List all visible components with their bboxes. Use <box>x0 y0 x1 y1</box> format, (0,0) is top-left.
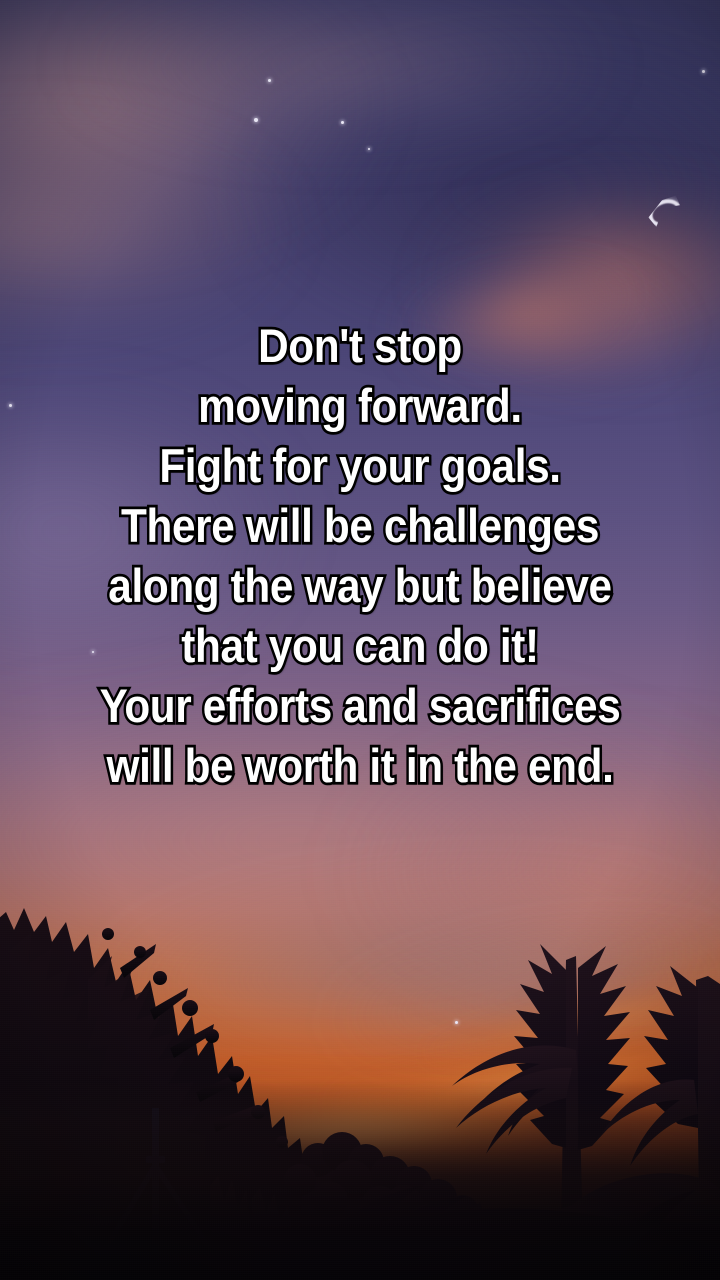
cloud-upper-left-lower <box>0 120 340 340</box>
quote-line-2: moving forward. <box>50 376 669 436</box>
star-icon <box>702 70 705 73</box>
quote-block: Don't stop moving forward. Fight for you… <box>0 316 720 796</box>
ground-shadow <box>0 1080 720 1280</box>
star-icon <box>254 118 258 122</box>
quote-wallpaper: Don't stop moving forward. Fight for you… <box>0 0 720 1280</box>
star-icon <box>341 121 344 124</box>
quote-line-7: Your efforts and sacrifices <box>50 676 669 736</box>
star-icon <box>455 1021 458 1024</box>
star-icon <box>268 79 271 82</box>
quote-line-4: There will be challenges <box>50 496 669 556</box>
cloud-top-band <box>80 0 600 150</box>
quote-line-1: Don't stop <box>50 316 669 376</box>
quote-line-3: Fight for your goals. <box>50 436 669 496</box>
quote-line-5: along the way but believe <box>50 556 669 616</box>
quote-line-6: that you can do it! <box>50 616 669 676</box>
star-icon <box>368 148 370 150</box>
quote-line-8: will be worth it in the end. <box>50 736 669 796</box>
